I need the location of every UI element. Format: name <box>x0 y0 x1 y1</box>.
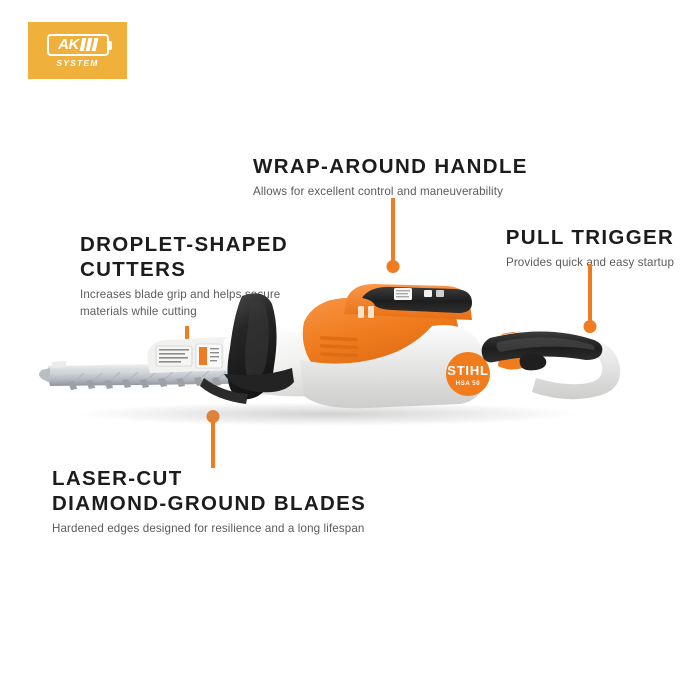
pull-trigger <box>520 354 547 371</box>
logo-system-text: SYSTEM <box>56 59 98 68</box>
battery-icon: AK <box>47 34 109 56</box>
callout-subtitle: Allows for excellent control and maneuve… <box>253 184 553 201</box>
leader-stem <box>391 198 395 264</box>
callout-title: PULL TRIGGER <box>492 225 688 250</box>
leader-dot <box>387 260 400 273</box>
vent-slots <box>320 336 358 357</box>
callout-laser-cut-diamond-ground-blades: LASER-CUT DIAMOND-GROUND BLADES Hardened… <box>52 466 392 538</box>
leader-line-wrap-around-handle <box>386 198 400 276</box>
svg-text:STIHL: STIHL <box>447 363 489 378</box>
callout-title-line1: DROPLET-SHAPED <box>80 232 310 257</box>
ak-system-logo: AK SYSTEM <box>28 22 127 79</box>
callout-wrap-around-handle: WRAP-AROUND HANDLE Allows for excellent … <box>253 154 553 201</box>
svg-text:HSA 50: HSA 50 <box>456 381 480 387</box>
battery-bars-icon <box>79 38 98 51</box>
callout-subtitle: Hardened edges designed for resilience a… <box>52 521 392 538</box>
logo-ak-text: AK <box>58 37 79 52</box>
callout-title-line2: DIAMOND-GROUND BLADES <box>52 491 392 516</box>
battery-pack <box>344 284 472 320</box>
product-image-hedge-trimmer: STIHL HSA 50 <box>28 278 664 428</box>
callout-title: WRAP-AROUND HANDLE <box>253 154 553 179</box>
callout-title-line1: LASER-CUT <box>52 466 392 491</box>
hand-guard <box>147 337 232 373</box>
infographic-canvas: AK SYSTEM WRAP-AROUND HANDLE Allows for … <box>0 0 692 692</box>
stihl-badge: STIHL HSA 50 <box>446 352 490 396</box>
